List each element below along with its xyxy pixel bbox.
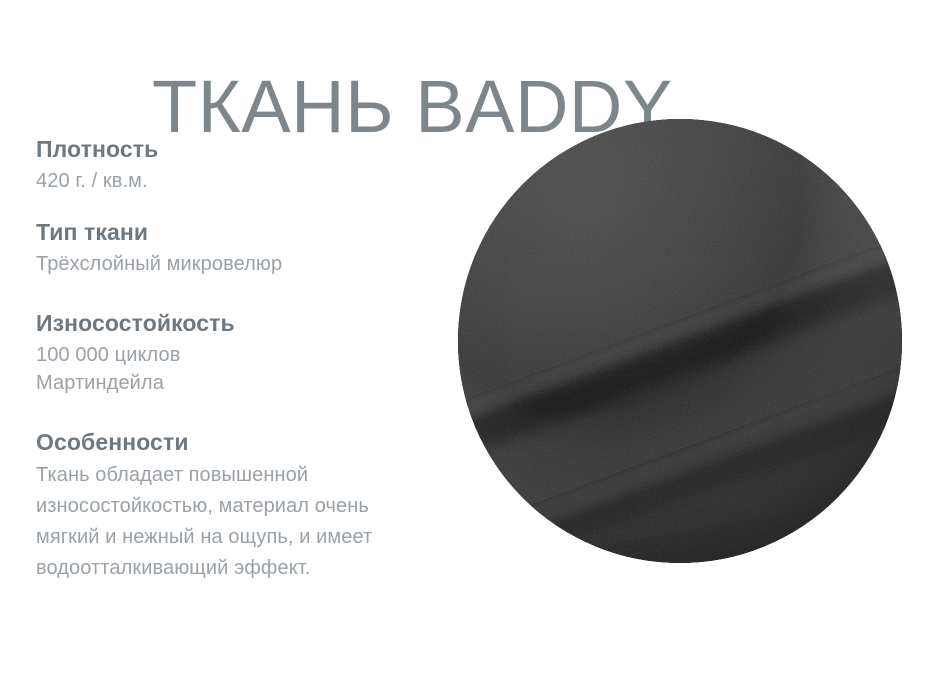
fabric-spec-card: ТКАНЬ BADDY Плотность 420 г. / кв.м. Тип…: [0, 0, 934, 700]
spec-heading-fabric-type: Тип ткани: [36, 217, 416, 247]
spec-value-density: 420 г. / кв.м.: [36, 167, 416, 195]
spec-heading-features: Особенности: [36, 427, 416, 457]
spec-block-fabric-type: Тип ткани Трёхслойный микровелюр: [36, 217, 416, 278]
spec-heading-wear-resistance: Износостойкость: [36, 308, 416, 338]
spec-block-wear-resistance: Износостойкость 100 000 циклов Мартиндей…: [36, 308, 416, 397]
spec-value-fabric-type: Трёхслойный микровелюр: [36, 250, 416, 278]
spec-value-wear-resistance: 100 000 циклов Мартиндейла: [36, 341, 416, 397]
fabric-texture-illustration: [458, 119, 902, 563]
spec-block-density: Плотность 420 г. / кв.м.: [36, 134, 416, 195]
spec-value-features: Ткань обладает повышенной износостойкост…: [36, 460, 381, 584]
fabric-sample-photo: [458, 119, 902, 563]
specification-list: Плотность 420 г. / кв.м. Тип ткани Трёхс…: [36, 134, 416, 584]
spec-heading-density: Плотность: [36, 134, 416, 164]
spec-block-features: Особенности Ткань обладает повышенной из…: [36, 427, 416, 584]
